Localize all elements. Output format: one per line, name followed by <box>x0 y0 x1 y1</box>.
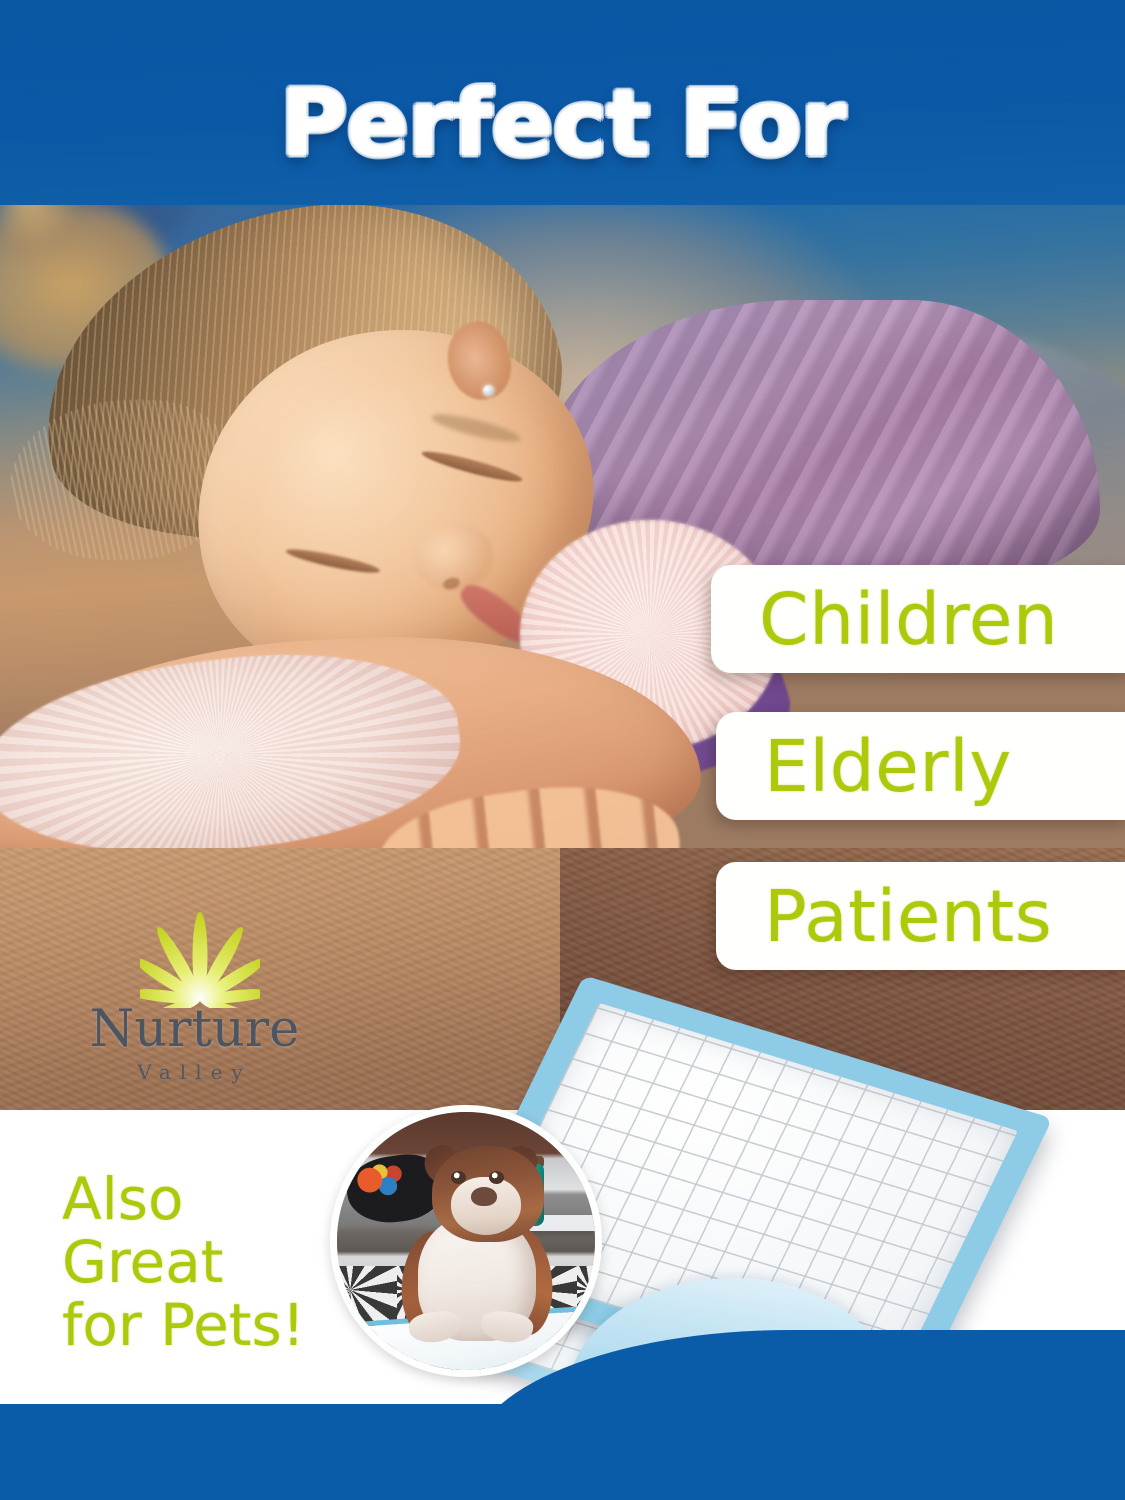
brand-tagline: Valley <box>72 1060 317 1084</box>
bulldog-nose <box>471 1187 497 1206</box>
callout-bar-patients: Patients <box>716 862 1125 970</box>
callout-label-children: Children <box>759 584 1058 655</box>
bulldog-inset-photo <box>330 1105 602 1377</box>
earring <box>483 385 494 396</box>
pets-promo-text: Also Great for Pets! <box>62 1168 305 1358</box>
callout-bar-children: Children <box>711 565 1125 673</box>
callout-bar-elderly: Elderly <box>716 712 1125 820</box>
pets-promo-line-1: Also <box>62 1168 305 1231</box>
brand-logo: Nurture Valley <box>72 912 317 1092</box>
callout-label-patients: Patients <box>764 881 1052 952</box>
page-title: Perfect For <box>0 78 1125 170</box>
bulldog-left-eye <box>451 1171 466 1184</box>
pets-promo-line-2: Great <box>62 1231 305 1294</box>
callout-label-elderly: Elderly <box>764 731 1012 802</box>
pets-promo-line-3: for Pets! <box>62 1294 305 1357</box>
brand-name: Nurture <box>72 1004 317 1055</box>
sunburst-flower-icon <box>140 912 260 1008</box>
product-infographic: Perfect For Children Elderly Patients <box>0 0 1125 1500</box>
footer-band <box>0 1404 1125 1500</box>
